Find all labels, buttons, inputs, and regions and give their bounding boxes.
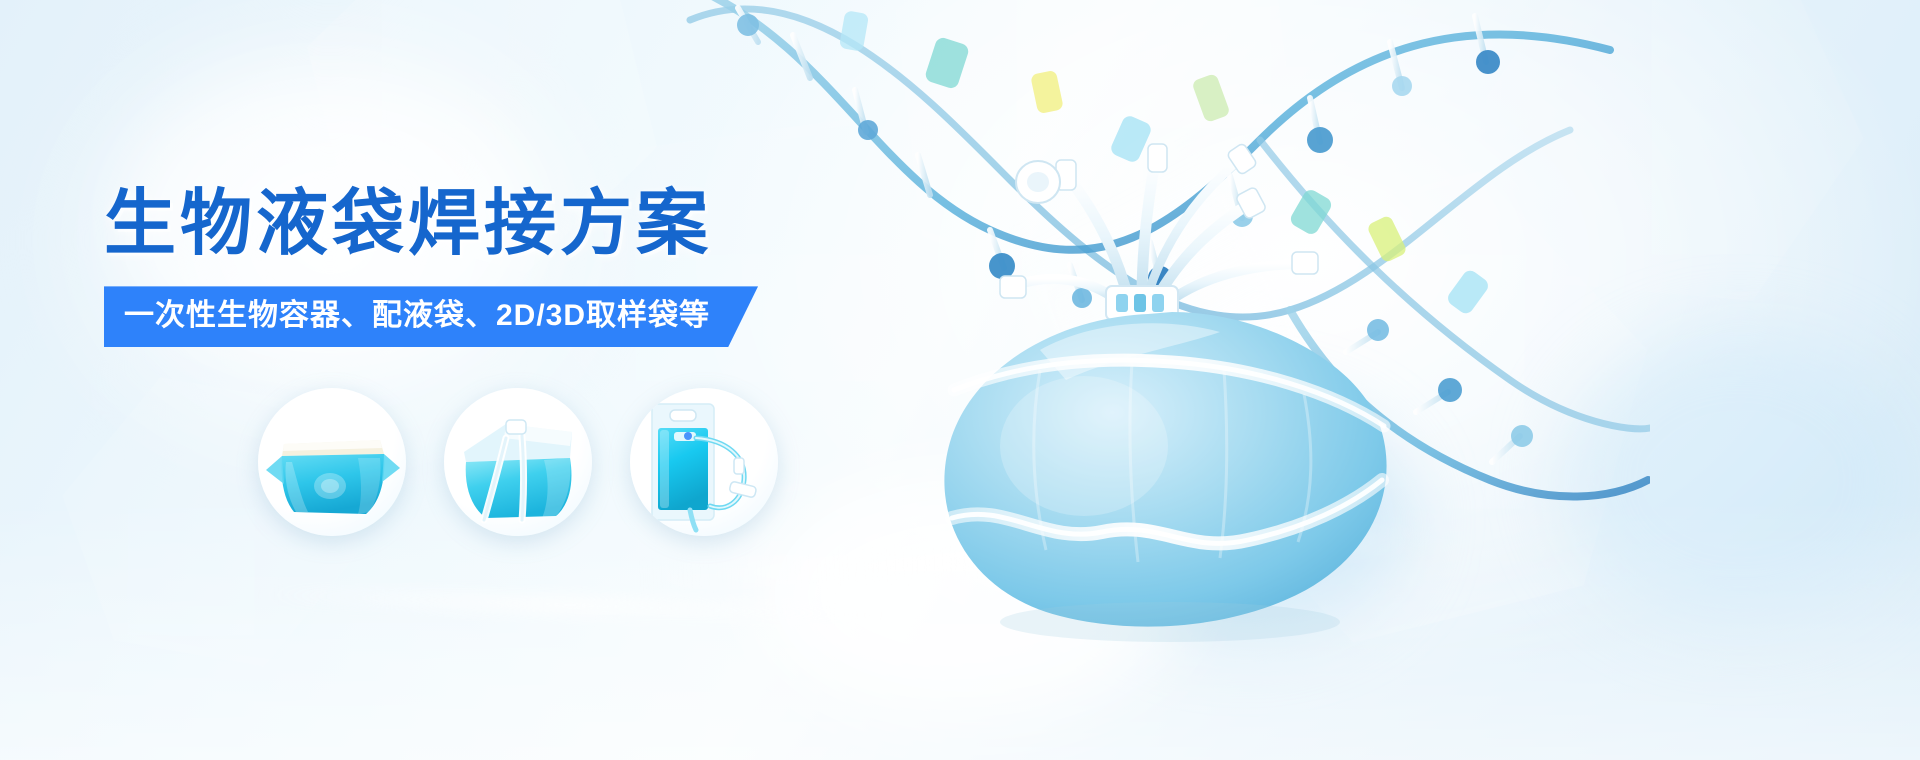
page-title: 生物液袋焊接方案 <box>104 186 758 262</box>
product-thumbnail-disposable-bio-container[interactable] <box>258 388 406 536</box>
background-fade-bottom <box>0 500 1920 760</box>
hero-banner: 生物液袋焊接方案 一次性生物容器、配液袋、2D/3D取样袋等 <box>0 0 1920 760</box>
banner-text-block: 生物液袋焊接方案 一次性生物容器、配液袋、2D/3D取样袋等 <box>104 186 758 347</box>
product-thumbnail-row <box>258 388 778 536</box>
subtitle-badge: 一次性生物容器、配液袋、2D/3D取样袋等 <box>104 286 758 347</box>
product-thumbnail-sampling-bag[interactable] <box>630 388 778 536</box>
product-thumbnail-mixing-bag[interactable] <box>444 388 592 536</box>
